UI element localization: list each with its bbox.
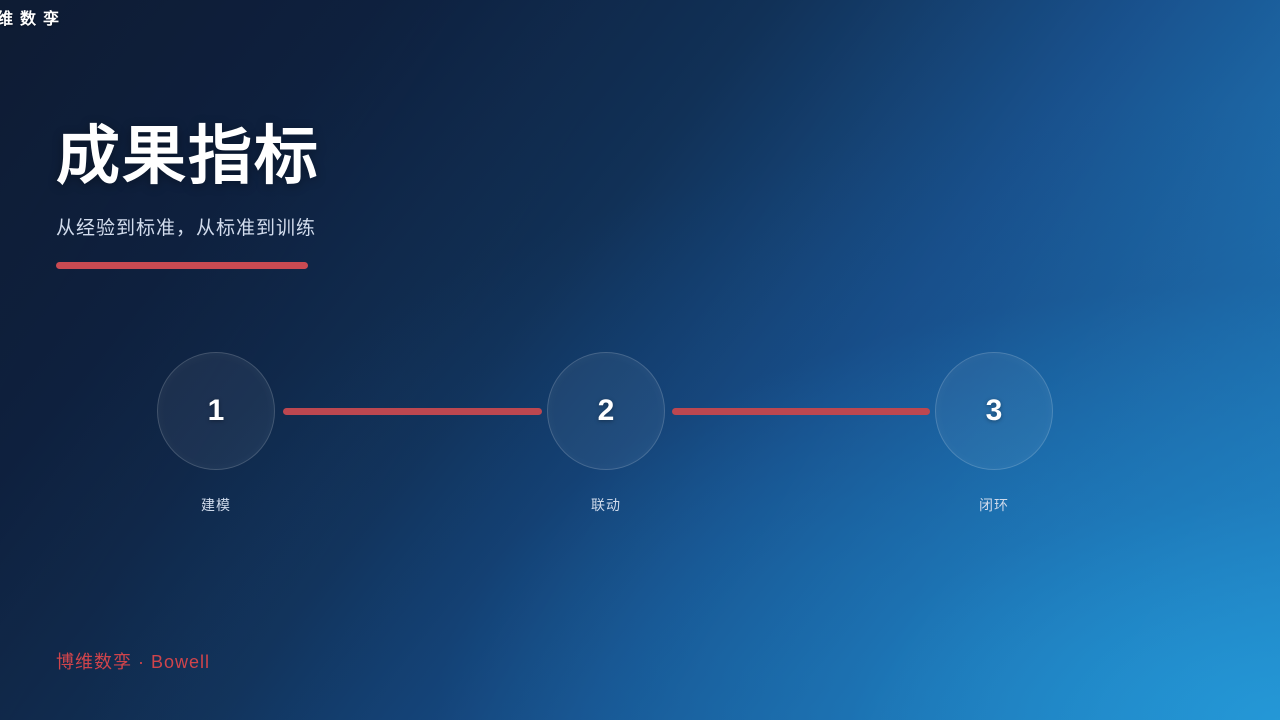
step-item-3[interactable]: 3 闭环 bbox=[914, 352, 1074, 515]
slide: 博维数孪 成果指标 从经验到标准，从标准到训练 1 建模 2 联动 3 闭环 博… bbox=[0, 0, 1280, 720]
step-process-diagram: 1 建模 2 联动 3 闭环 bbox=[0, 352, 1280, 532]
step-item-1[interactable]: 1 建模 bbox=[136, 352, 296, 515]
step-number-2: 2 bbox=[598, 394, 615, 428]
step-circle-3[interactable]: 3 bbox=[935, 352, 1053, 470]
step-label-1: 建模 bbox=[136, 495, 296, 515]
step-number-1: 1 bbox=[208, 394, 225, 428]
step-connector-1-2 bbox=[283, 408, 542, 415]
page-title: 成果指标 bbox=[56, 122, 320, 191]
header-brand-watermark: 博维数孪 bbox=[0, 5, 66, 29]
step-circle-2[interactable]: 2 bbox=[547, 352, 665, 470]
step-label-3: 闭环 bbox=[914, 495, 1074, 515]
step-connector-2-3 bbox=[672, 408, 930, 415]
page-subtitle: 从经验到标准，从标准到训练 bbox=[56, 213, 320, 240]
step-number-3: 3 bbox=[986, 394, 1003, 428]
accent-bar bbox=[56, 262, 308, 269]
step-label-2: 联动 bbox=[526, 495, 686, 515]
step-circle-1[interactable]: 1 bbox=[157, 352, 275, 470]
step-item-2[interactable]: 2 联动 bbox=[526, 352, 686, 515]
title-block: 成果指标 从经验到标准，从标准到训练 bbox=[56, 122, 320, 269]
footer-brand: 博维数孪 · Bowell bbox=[56, 648, 210, 674]
